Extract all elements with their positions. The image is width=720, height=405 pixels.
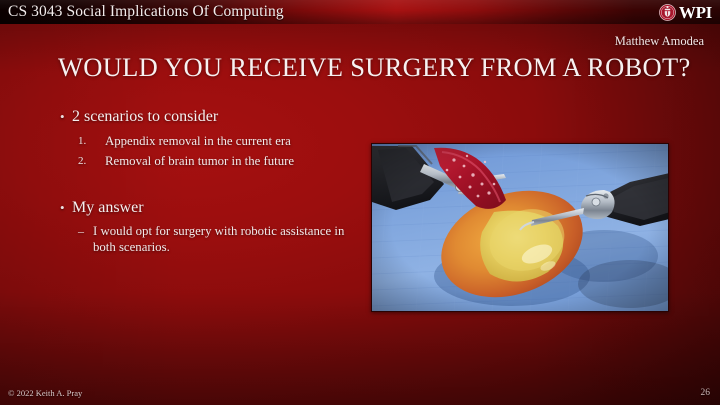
- author-name: Matthew Amodea: [615, 33, 704, 49]
- sublist-answer: – I would opt for surgery with robotic a…: [56, 223, 366, 255]
- dash-marker: –: [78, 223, 84, 239]
- bullet-marker: •: [60, 106, 65, 128]
- list-spacer: [56, 171, 366, 197]
- slide-body: • 2 scenarios to consider 1. Appendix re…: [56, 106, 366, 255]
- sublist-scenarios: 1. Appendix removal in the current era 2…: [56, 131, 366, 171]
- slide-title: WOULD YOU RECEIVE SURGERY FROM A ROBOT?: [58, 50, 686, 84]
- bullet-item-1: • My answer: [56, 197, 366, 219]
- list-number: 2.: [78, 151, 86, 171]
- slide-page-number: 26: [701, 388, 711, 399]
- wpi-seal-icon: [659, 4, 676, 21]
- sublist-item-text: Appendix removal in the current era: [105, 134, 291, 148]
- list-number: 1.: [78, 131, 86, 151]
- sublist-item-text: Removal of brain tumor in the future: [105, 154, 294, 168]
- sublist-item-text: I would opt for surgery with robotic ass…: [93, 224, 344, 254]
- sublist-item: 1. Appendix removal in the current era: [56, 131, 366, 151]
- sublist-item: 2. Removal of brain tumor in the future: [56, 151, 366, 171]
- course-title: CS 3043 Social Implications Of Computing: [8, 2, 284, 22]
- bullet-item-0: • 2 scenarios to consider: [56, 106, 366, 128]
- surgery-photo-canvas: [372, 144, 668, 311]
- wpi-logo: WPI: [659, 1, 712, 23]
- footer-copyright: © 2022 Keith A. Pray: [8, 388, 82, 399]
- sublist-item: – I would opt for surgery with robotic a…: [56, 223, 366, 255]
- bullet-text: My answer: [72, 199, 144, 216]
- wpi-wordmark: WPI: [679, 4, 712, 21]
- surgery-photo: [371, 143, 669, 312]
- presentation-slide: CS 3043 Social Implications Of Computing…: [0, 0, 720, 405]
- bullet-marker: •: [60, 197, 65, 219]
- slide-header-banner: CS 3043 Social Implications Of Computing…: [0, 0, 720, 24]
- bullet-text: 2 scenarios to consider: [72, 108, 218, 125]
